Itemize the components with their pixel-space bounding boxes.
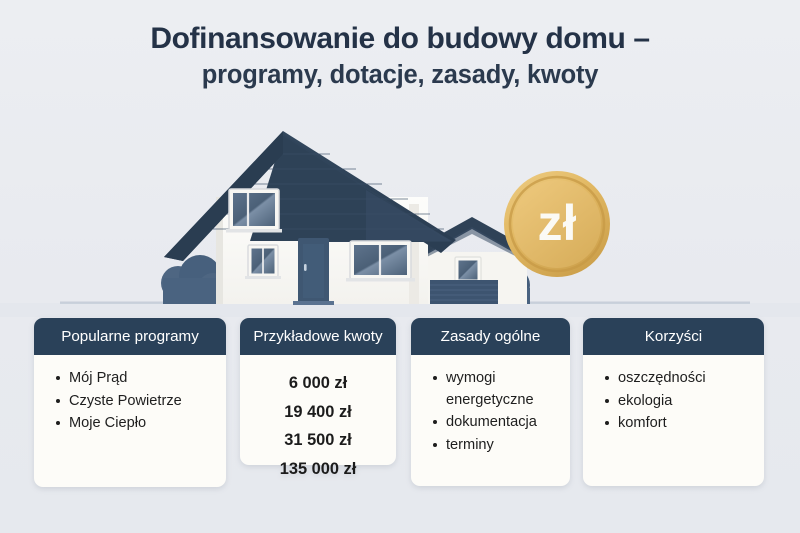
door-handle bbox=[304, 264, 307, 271]
card-row: Popularne programy Mój Prąd Czyste Powie… bbox=[0, 318, 800, 510]
page-title: Dofinansowanie do budowy domu – programy… bbox=[0, 22, 800, 90]
card-popularne-programy[interactable]: Popularne programy Mój Prąd Czyste Powie… bbox=[34, 318, 226, 487]
card-body: oszczędności ekologia komfort bbox=[583, 355, 764, 486]
korzysci-list: oszczędności ekologia komfort bbox=[583, 355, 764, 445]
lower-right-window-sill bbox=[346, 278, 415, 282]
amount-item: 135 000 zł bbox=[250, 455, 386, 483]
lower-left-window-sill bbox=[245, 276, 281, 279]
upper-window-sill bbox=[226, 229, 282, 233]
zasady-list: wymogi energetyczne dokumentacja terminy bbox=[411, 355, 570, 467]
list-item: wymogi energetyczne bbox=[433, 368, 562, 411]
card-korzysci[interactable]: Korzyści oszczędności ekologia komfort bbox=[583, 318, 764, 486]
amount-item: 6 000 zł bbox=[250, 369, 386, 397]
coin-currency-label: zł bbox=[538, 195, 577, 251]
amount-item: 19 400 zł bbox=[250, 398, 386, 426]
card-przykladowe-kwoty[interactable]: Przykładowe kwoty 6 000 zł 19 400 zł 31 … bbox=[240, 318, 396, 465]
list-item: komfort bbox=[605, 413, 756, 434]
list-item: oszczędności bbox=[605, 368, 756, 389]
attic-window-glass bbox=[459, 261, 478, 280]
front-door-inset bbox=[303, 244, 324, 298]
list-item: Mój Prąd bbox=[56, 368, 218, 389]
list-item: Czyste Powietrze bbox=[56, 391, 218, 412]
list-item: ekologia bbox=[605, 391, 756, 412]
card-body: wymogi energetyczne dokumentacja terminy bbox=[411, 355, 570, 486]
upper-window-glass bbox=[233, 193, 275, 226]
page-title-subtitle: programy, dotacje, zasady, kwoty bbox=[0, 60, 800, 91]
coin: zł bbox=[504, 171, 610, 277]
card-body: 6 000 zł 19 400 zł 31 500 zł 135 000 zł bbox=[240, 355, 396, 465]
programy-list: Mój Prąd Czyste Powietrze Moje Ciepło bbox=[34, 355, 226, 445]
card-heading: Zasady ogólne bbox=[411, 318, 570, 355]
list-item: terminy bbox=[433, 435, 562, 456]
page-title-line-1: Dofinansowanie do budowy domu – bbox=[0, 22, 800, 57]
card-zasady-ogolne[interactable]: Zasady ogólne wymogi energetyczne dokume… bbox=[411, 318, 570, 486]
ground-band bbox=[0, 303, 800, 317]
infographic-canvas: Dofinansowanie do budowy domu – programy… bbox=[0, 0, 800, 533]
amount-item: 31 500 zł bbox=[250, 426, 386, 454]
card-body: Mój Prąd Czyste Powietrze Moje Ciepło bbox=[34, 355, 226, 487]
house-illustration: zł bbox=[0, 112, 800, 317]
kwoty-list: 6 000 zł 19 400 zł 31 500 zł 135 000 zł bbox=[240, 355, 396, 493]
list-item: Moje Ciepło bbox=[56, 413, 218, 434]
card-heading: Popularne programy bbox=[34, 318, 226, 355]
list-item: dokumentacja bbox=[433, 412, 562, 433]
card-heading: Korzyści bbox=[583, 318, 764, 355]
card-heading: Przykładowe kwoty bbox=[240, 318, 396, 355]
door-step bbox=[293, 301, 334, 305]
